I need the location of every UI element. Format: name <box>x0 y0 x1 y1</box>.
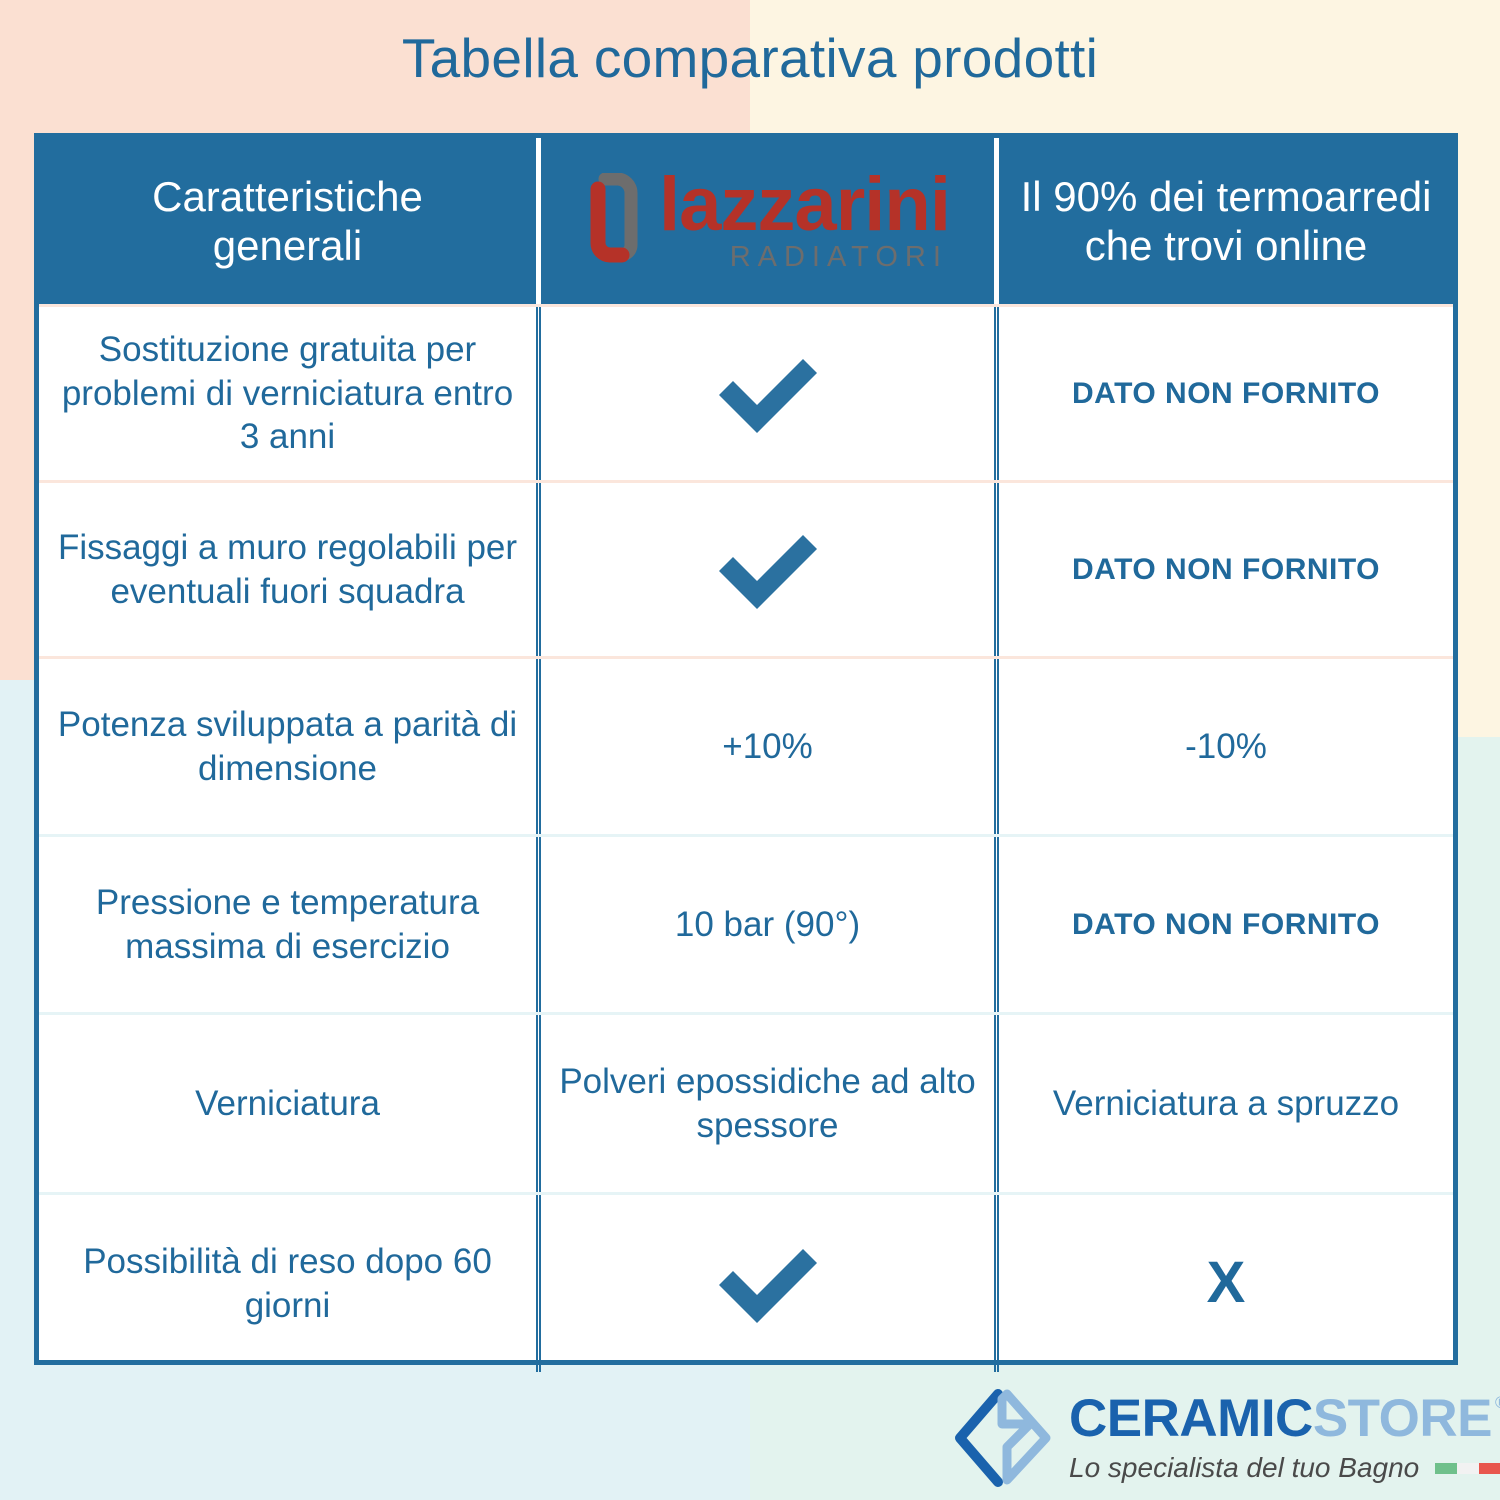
table-row: Potenza sviluppata a parità di dimension… <box>39 656 1453 834</box>
row-competitor-value: Verniciatura a spruzzo <box>994 1015 1453 1192</box>
table-row: Possibilità di reso dopo 60 giorni X <box>39 1192 1453 1372</box>
table-header-row: Caratteristiche generali lazzarini RADIA… <box>39 138 1453 304</box>
lazzarini-l-mark-icon <box>585 173 645 273</box>
row-lazzarini-value: +10% <box>536 659 994 834</box>
lazzarini-wordmark: lazzarini RADIATORI <box>659 169 950 272</box>
table-row: Fissaggi a muro regolabili per eventuali… <box>39 480 1453 656</box>
row-lazzarini-value <box>536 483 994 656</box>
italian-flag-icon <box>1435 1463 1500 1474</box>
row-feature-label: Pressione e temperatura massima di eserc… <box>39 837 536 1012</box>
row-lazzarini-value: Polveri epossidiche ad alto spessore <box>536 1015 994 1192</box>
lazzarini-subtitle: RADIATORI <box>730 243 948 272</box>
row-lazzarini-value <box>536 1195 994 1372</box>
table-row: Verniciatura Polveri epossidiche ad alto… <box>39 1012 1453 1192</box>
page-title: Tabella comparativa prodotti <box>0 28 1500 89</box>
check-icon <box>713 355 823 433</box>
row-competitor-value: X <box>994 1195 1453 1372</box>
header-competitor-line2: che trovi online <box>1021 221 1432 270</box>
header-cell-lazzarini: lazzarini RADIATORI <box>536 138 994 304</box>
row-competitor-value: DATO NON FORNITO <box>994 483 1453 656</box>
ceramicstore-logo: CERAMIC STORE ® Lo specialista del tuo B… <box>950 1388 1500 1488</box>
row-lazzarini-value <box>536 307 994 480</box>
lazzarini-logo: lazzarini RADIATORI <box>541 169 994 273</box>
row-feature-label: Verniciatura <box>39 1015 536 1192</box>
row-competitor-value: DATO NON FORNITO <box>994 837 1453 1012</box>
row-feature-label: Possibilità di reso dopo 60 giorni <box>39 1195 536 1372</box>
check-icon <box>713 531 823 609</box>
row-feature-label: Fissaggi a muro regolabili per eventuali… <box>39 483 536 656</box>
comparison-table: Caratteristiche generali lazzarini RADIA… <box>34 133 1458 1365</box>
comparison-infographic: Tabella comparativa prodotti Caratterist… <box>0 0 1500 1500</box>
row-feature-label: Potenza sviluppata a parità di dimension… <box>39 659 536 834</box>
table-row: Pressione e temperatura massima di eserc… <box>39 834 1453 1012</box>
ceramicstore-mark-icon <box>950 1388 1055 1488</box>
tagline: Lo specialista del tuo Bagno <box>1069 1452 1419 1484</box>
registered-mark-icon: ® <box>1495 1394 1500 1411</box>
header-competitor-line1: Il 90% dei termoarredi <box>1021 172 1432 221</box>
header-features-line1: Caratteristiche <box>152 172 423 221</box>
table-row: Sostituzione gratuita per problemi di ve… <box>39 304 1453 480</box>
brand-ceramic: CERAMIC <box>1069 1392 1313 1445</box>
row-feature-label: Sostituzione gratuita per problemi di ve… <box>39 307 536 480</box>
lazzarini-name: lazzarini <box>659 169 950 241</box>
header-cell-features: Caratteristiche generali <box>39 138 536 304</box>
ceramicstore-tagline-row: Lo specialista del tuo Bagno <box>1069 1452 1500 1484</box>
brand-store: STORE <box>1313 1392 1492 1445</box>
header-features-line2: generali <box>152 221 423 270</box>
ceramicstore-brand: CERAMIC STORE ® <box>1069 1392 1500 1445</box>
row-competitor-value: -10% <box>994 659 1453 834</box>
check-icon <box>713 1245 823 1323</box>
row-competitor-value: DATO NON FORNITO <box>994 307 1453 480</box>
ceramicstore-wordmark: CERAMIC STORE ® Lo specialista del tuo B… <box>1069 1392 1500 1484</box>
row-lazzarini-value: 10 bar (90°) <box>536 837 994 1012</box>
header-cell-competitor: Il 90% dei termoarredi che trovi online <box>994 138 1453 304</box>
